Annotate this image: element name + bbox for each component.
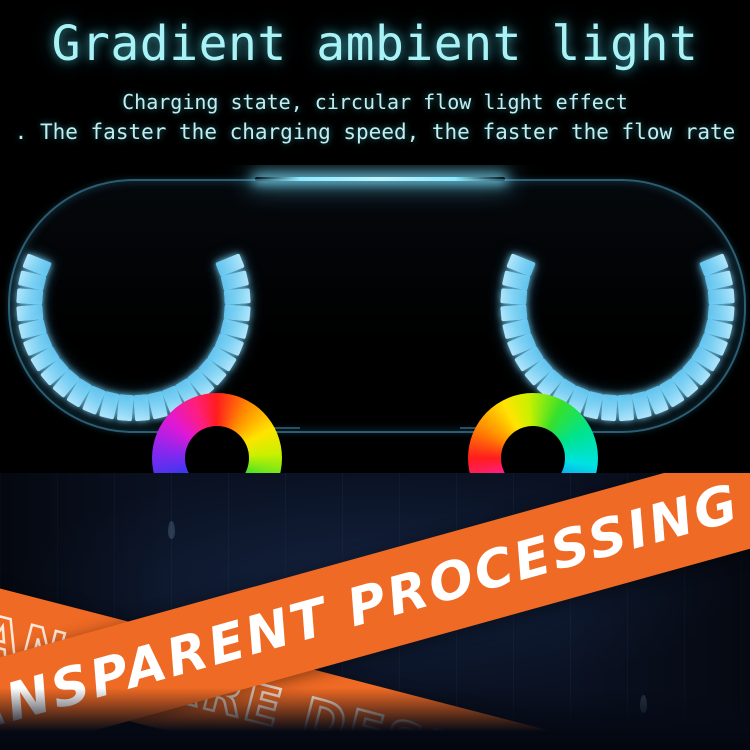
right-flow-light-arc: [492, 179, 742, 429]
hero-section: Gradient ambient light Charging state, c…: [0, 0, 750, 165]
page-title: Gradient ambient light: [0, 16, 750, 72]
bottom-fade-overlay: [0, 688, 750, 750]
hero-subtitle-line-1: Charging state, circular flow light effe…: [0, 90, 750, 114]
flow-light-tick: [617, 394, 634, 421]
flow-light-tick: [708, 288, 735, 305]
flow-light-tick: [16, 288, 43, 305]
promo-page: Gradient ambient light Charging state, c…: [0, 0, 750, 750]
left-flow-light-arc: [8, 179, 258, 429]
flow-light-tick: [601, 394, 618, 421]
hero-subtitle-line-2: . The faster the charging speed, the fas…: [0, 120, 750, 145]
flow-light-tick: [117, 394, 134, 421]
flow-light-tick: [224, 288, 251, 305]
bottom-section: TRAN SPARE DESIGN CYBERPUNK STYLE TRANSP…: [0, 473, 750, 750]
flow-light-tick: [224, 304, 251, 321]
top-glow-bar: [255, 177, 505, 181]
droplet-icon: [168, 521, 175, 539]
product-panel: Colorful ambient light with illuminated …: [0, 165, 750, 473]
flow-light-tick: [500, 304, 527, 321]
flow-light-tick: [500, 288, 527, 305]
